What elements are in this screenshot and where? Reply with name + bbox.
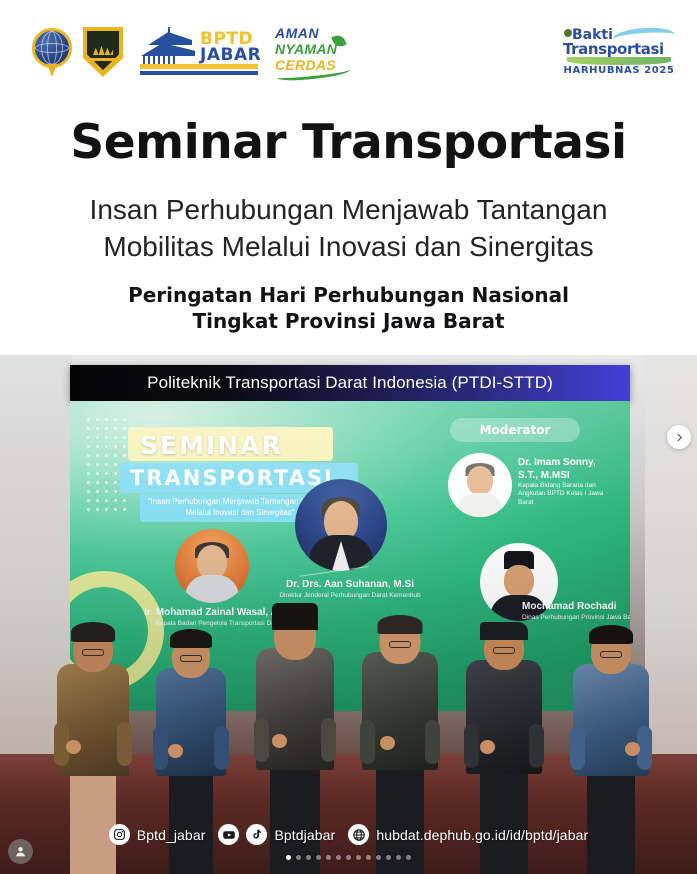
logo-strip: BPTD JABAR AMAN NYAMAN CERDAS Bakti Tran…	[0, 0, 697, 105]
carousel-pagination[interactable]	[0, 855, 697, 860]
instagram-post-image: BPTD JABAR AMAN NYAMAN CERDAS Bakti Tran…	[0, 0, 697, 874]
pager-dot[interactable]	[356, 855, 361, 860]
event-photo: Politeknik Transportasi Darat Indonesia …	[0, 355, 697, 874]
subtitle-line-2: Mobilitas Melalui Inovasi dan Sinergitas	[0, 228, 697, 266]
next-slide-button[interactable]	[667, 425, 691, 449]
kemenhub-globe-icon	[30, 26, 74, 78]
harhubnas-year: HARHUBNAS 2025	[563, 65, 675, 76]
pager-dot[interactable]	[386, 855, 391, 860]
pager-dot[interactable]	[316, 855, 321, 860]
government-emblems	[30, 26, 123, 78]
pager-dot[interactable]	[296, 855, 301, 860]
social-footer: Bptd_jabar Bptdjabar	[0, 818, 697, 874]
pager-dot[interactable]	[376, 855, 381, 860]
tagline: Peringatan Hari Perhubungan Nasional Tin…	[0, 282, 697, 335]
pager-dot[interactable]	[326, 855, 331, 860]
bakti-line2: Transportasi	[563, 40, 664, 58]
website-url: hubdat.dephub.go.id/id/bptd/jabar	[376, 827, 588, 843]
tree-dot-icon	[564, 29, 572, 37]
bakti-transportasi-logo: Bakti Transportasi HARHUBNAS 2025	[563, 27, 675, 79]
avatar[interactable]	[8, 839, 33, 864]
tiktok-icon[interactable]	[246, 824, 267, 845]
west-java-shield-icon	[83, 27, 123, 77]
aman-nyaman-cerdas-logo: AMAN NYAMAN CERDAS	[275, 26, 353, 80]
youtube-icon[interactable]	[218, 824, 239, 845]
headline-block: Seminar Transportasi Insan Perhubungan M…	[0, 118, 697, 335]
bptd-jabar-logo: BPTD JABAR	[140, 27, 258, 77]
youtube-tiktok-handle: Bptdjabar	[274, 827, 335, 843]
globe-icon[interactable]	[348, 824, 369, 845]
page-title: Seminar Transportasi	[0, 118, 697, 169]
pager-dot[interactable]	[406, 855, 411, 860]
bptd-logo-line2: JABAR	[200, 45, 261, 65]
pager-dot[interactable]	[286, 855, 291, 860]
instagram-icon[interactable]	[109, 824, 130, 845]
tagline-line-2: Tingkat Provinsi Jawa Barat	[0, 308, 697, 335]
pager-dot[interactable]	[396, 855, 401, 860]
pager-dot[interactable]	[336, 855, 341, 860]
attendees-row	[0, 355, 697, 874]
pager-dot[interactable]	[346, 855, 351, 860]
pager-dot[interactable]	[366, 855, 371, 860]
subtitle: Insan Perhubungan Menjawab Tantangan Mob…	[0, 191, 697, 266]
leaf-band-decoration	[567, 57, 671, 65]
instagram-handle: Bptd_jabar	[137, 827, 206, 843]
tagline-line-1: Peringatan Hari Perhubungan Nasional	[0, 282, 697, 309]
pager-dot[interactable]	[306, 855, 311, 860]
subtitle-line-1: Insan Perhubungan Menjawab Tantangan	[0, 191, 697, 229]
